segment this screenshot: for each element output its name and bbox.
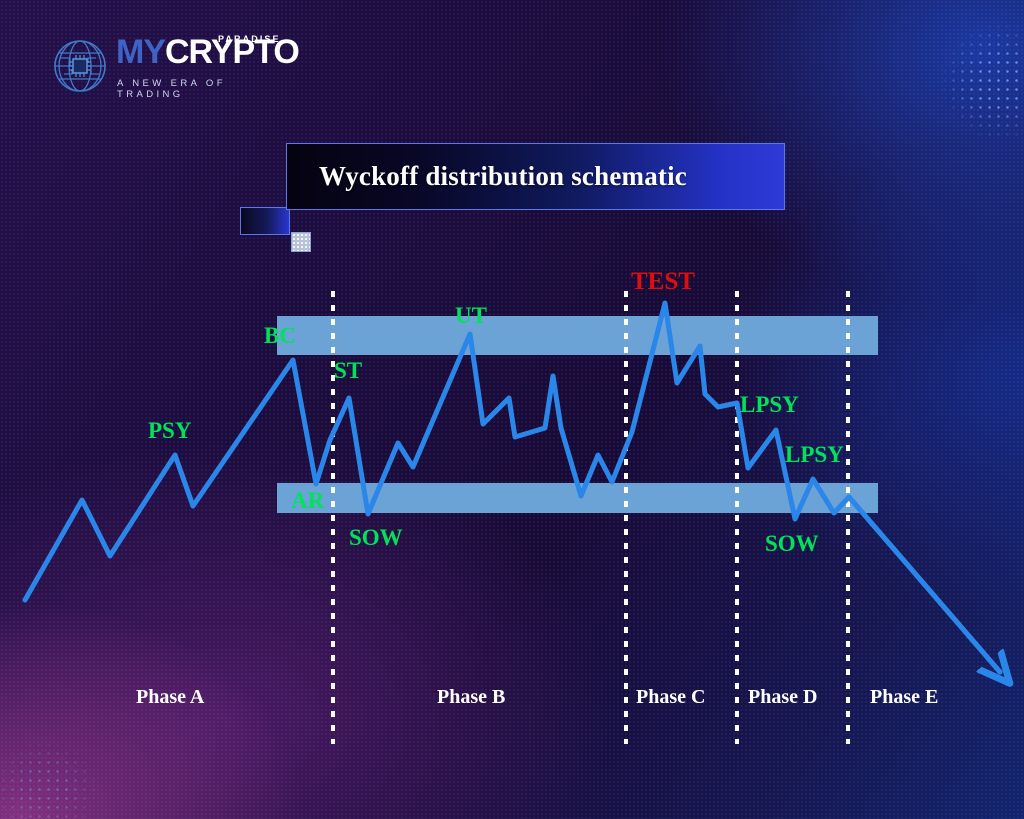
annotation-test: TEST (631, 268, 695, 296)
annotation-st: ST (334, 358, 362, 384)
wyckoff-distribution-chart: PSYBCSTARSOWUTTESTLPSYLPSYSOW Phase APha… (0, 0, 1024, 819)
phase-label-phase-c: Phase C (636, 686, 705, 709)
downtrend-arrow (849, 497, 1000, 672)
slide-canvas: MYCRYPTO PARADISE A NEW ERA OF TRADING W… (0, 0, 1024, 819)
annotation-ut: UT (455, 303, 487, 329)
phase-label-phase-d: Phase D (748, 686, 817, 709)
annotation-bc: BC (264, 323, 296, 349)
resistance-band (277, 316, 878, 355)
annotation-sow-2: SOW (765, 531, 819, 557)
annotation-lpsy-1: LPSY (740, 392, 799, 418)
phase-label-phase-b: Phase B (437, 686, 505, 709)
annotation-sow-1: SOW (349, 525, 403, 551)
phase-dividers (333, 291, 848, 744)
annotation-lpsy-2: LPSY (785, 442, 844, 468)
phase-label-phase-e: Phase E (870, 686, 938, 709)
phase-label-phase-a: Phase A (136, 686, 204, 709)
annotation-psy: PSY (148, 418, 191, 444)
annotation-ar: AR (291, 488, 324, 514)
